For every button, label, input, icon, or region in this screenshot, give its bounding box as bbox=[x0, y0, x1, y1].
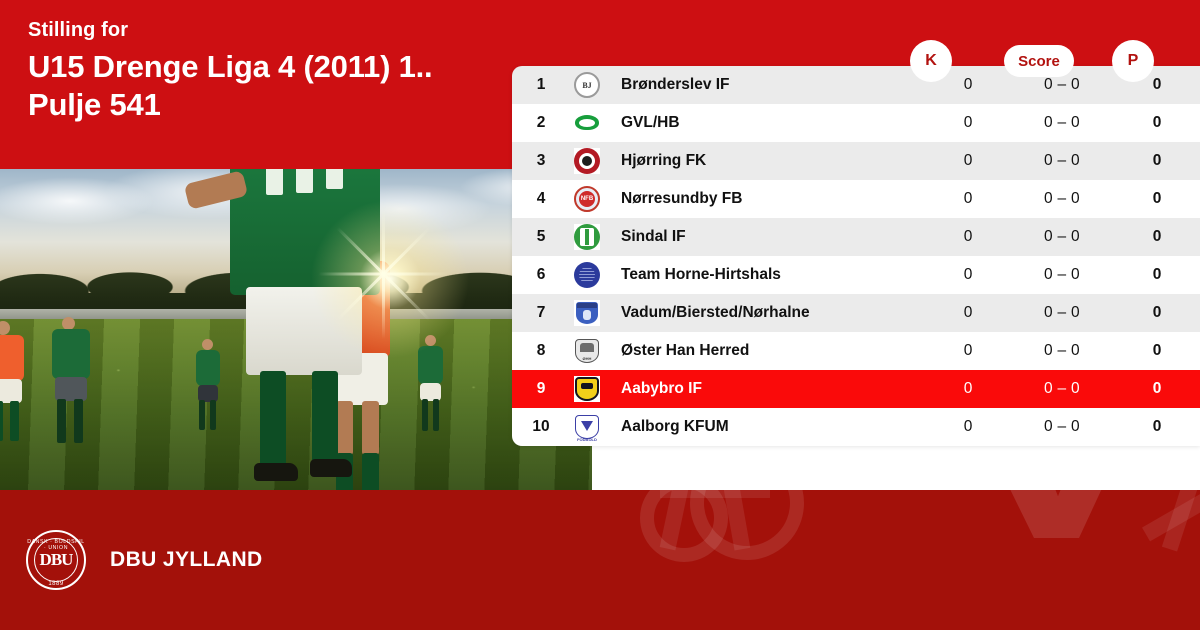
matches-played: 0 bbox=[926, 418, 1010, 436]
page-title: U15 Drenge Liga 4 (2011) 1.. Pulje 541 bbox=[28, 48, 498, 125]
goal-score: 0 – 0 bbox=[1010, 304, 1114, 322]
matches-played: 0 bbox=[926, 114, 1010, 132]
matches-played: 0 bbox=[926, 380, 1010, 398]
table-row[interactable]: 7 Vadum/Biersted/Nørhalne 0 0 – 0 0 bbox=[512, 294, 1200, 332]
logo-year: 1889 bbox=[26, 581, 86, 587]
team-crest-icon: FODBOLD bbox=[570, 414, 604, 440]
row-position: 10 bbox=[512, 418, 570, 436]
table-row[interactable]: 6 Team Horne-Hirtshals 0 0 – 0 0 bbox=[512, 256, 1200, 294]
row-position: 7 bbox=[512, 304, 570, 322]
row-position: 8 bbox=[512, 342, 570, 360]
points: 0 bbox=[1114, 228, 1200, 246]
kicker-label: Stilling for bbox=[28, 18, 498, 42]
team-crest-icon bbox=[570, 300, 604, 326]
team-name: Nørresundby FB bbox=[604, 190, 926, 208]
header-text-block: Stilling for U15 Drenge Liga 4 (2011) 1.… bbox=[28, 18, 498, 125]
table-row[interactable]: 4 NFB Nørresundby FB 0 0 – 0 0 bbox=[512, 180, 1200, 218]
table-row[interactable]: 2 GVL/HB 0 0 – 0 0 bbox=[512, 104, 1200, 142]
points: 0 bbox=[1114, 266, 1200, 284]
row-position: 3 bbox=[512, 152, 570, 170]
organisation-name: DBU JYLLAND bbox=[110, 548, 263, 572]
points: 0 bbox=[1114, 152, 1200, 170]
team-crest-icon bbox=[570, 148, 604, 174]
goal-score: 0 – 0 bbox=[1010, 380, 1114, 398]
team-crest-icon bbox=[570, 262, 604, 288]
team-name: GVL/HB bbox=[604, 114, 926, 132]
goal-score: 0 – 0 bbox=[1010, 266, 1114, 284]
column-header-score: Score bbox=[1004, 45, 1074, 77]
table-row[interactable]: 8 ØHH Øster Han Herred 0 0 – 0 0 bbox=[512, 332, 1200, 370]
points: 0 bbox=[1114, 380, 1200, 398]
goal-score: 0 – 0 bbox=[1010, 342, 1114, 360]
standings-graphic: Stilling for U15 Drenge Liga 4 (2011) 1.… bbox=[0, 0, 1200, 630]
table-row[interactable]: 10 FODBOLD Aalborg KFUM 0 0 – 0 0 bbox=[512, 408, 1200, 446]
team-crest-icon bbox=[570, 224, 604, 250]
goal-score: 0 – 0 bbox=[1010, 114, 1114, 132]
team-name: Vadum/Biersted/Nørhalne bbox=[604, 304, 926, 322]
team-crest-icon bbox=[570, 376, 604, 402]
column-header-p: P bbox=[1112, 40, 1154, 82]
goal-score: 0 – 0 bbox=[1010, 228, 1114, 246]
team-name: Brønderslev IF bbox=[604, 76, 926, 94]
matches-played: 0 bbox=[926, 228, 1010, 246]
matches-played: 0 bbox=[926, 190, 1010, 208]
column-header-k: K bbox=[910, 40, 952, 82]
points: 0 bbox=[1114, 418, 1200, 436]
dbu-logo-icon: DANSK · BOLDSPIL · UNION DBU 1889 bbox=[26, 530, 86, 590]
team-name: Øster Han Herred bbox=[604, 342, 926, 360]
footer-bar: DANSK · BOLDSPIL · UNION DBU 1889 DBU JY… bbox=[0, 490, 1200, 630]
row-position: 9 bbox=[512, 380, 570, 398]
team-name: Sindal IF bbox=[604, 228, 926, 246]
team-crest-icon bbox=[570, 110, 604, 136]
team-name: Aalborg KFUM bbox=[604, 418, 926, 436]
matches-played: 0 bbox=[926, 304, 1010, 322]
goal-score: 0 – 0 bbox=[1010, 190, 1114, 208]
team-name: Aabybro IF bbox=[604, 380, 926, 398]
goal-score: 0 – 0 bbox=[1010, 152, 1114, 170]
row-position: 1 bbox=[512, 76, 570, 94]
hero-photo bbox=[0, 169, 592, 490]
points: 0 bbox=[1114, 342, 1200, 360]
goal-score: 0 – 0 bbox=[1010, 418, 1114, 436]
team-crest-icon: BJ bbox=[570, 72, 604, 98]
row-position: 4 bbox=[512, 190, 570, 208]
row-position: 5 bbox=[512, 228, 570, 246]
table-row[interactable]: 5 Sindal IF 0 0 – 0 0 bbox=[512, 218, 1200, 256]
table-row[interactable]: 3 Hjørring FK 0 0 – 0 0 bbox=[512, 142, 1200, 180]
table-row[interactable]: 1 BJ Brønderslev IF 0 0 – 0 0 bbox=[512, 66, 1200, 104]
points: 0 bbox=[1114, 304, 1200, 322]
points: 0 bbox=[1114, 190, 1200, 208]
table-row-highlighted[interactable]: 9 Aabybro IF 0 0 – 0 0 bbox=[512, 370, 1200, 408]
row-position: 2 bbox=[512, 114, 570, 132]
logo-monogram: DBU bbox=[26, 550, 86, 570]
goal-score: 0 – 0 bbox=[1010, 76, 1114, 94]
matches-played: 0 bbox=[926, 152, 1010, 170]
team-crest-icon: ØHH bbox=[570, 338, 604, 364]
points: 0 bbox=[1114, 114, 1200, 132]
matches-played: 0 bbox=[926, 266, 1010, 284]
matches-played: 0 bbox=[926, 342, 1010, 360]
team-crest-icon: NFB bbox=[570, 186, 604, 212]
team-name: Team Horne-Hirtshals bbox=[604, 266, 926, 284]
row-position: 6 bbox=[512, 266, 570, 284]
standings-table: 1 BJ Brønderslev IF 0 0 – 0 0 2 GVL/HB 0 bbox=[512, 66, 1200, 446]
team-name: Hjørring FK bbox=[604, 152, 926, 170]
